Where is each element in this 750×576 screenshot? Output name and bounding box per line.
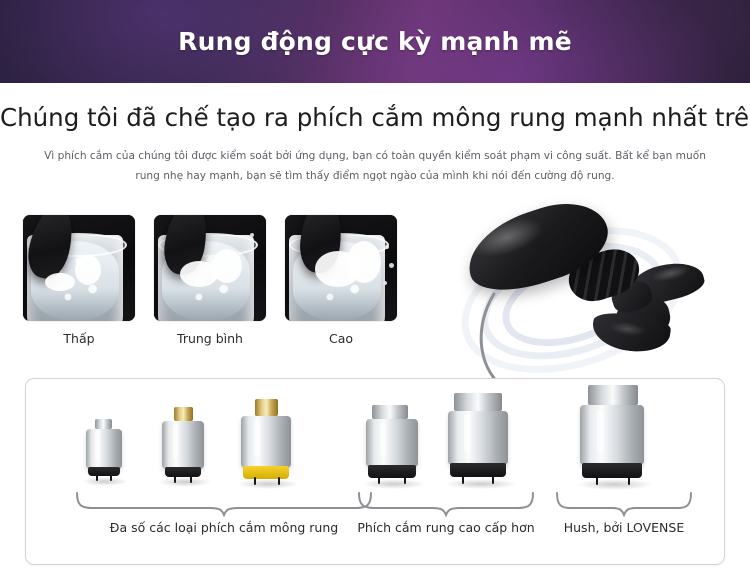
motor-comparison-panel: Đa số các loại phích cắm mông rung Phích… [25, 378, 725, 565]
motor-shadow [82, 477, 128, 486]
motor-hush [578, 385, 650, 485]
header-banner: Rung động cực kỳ mạnh mẽ [0, 0, 750, 83]
motor-pin [378, 476, 380, 484]
motor-pin [96, 474, 98, 481]
motor-shadow [237, 479, 299, 489]
motor-small-3 [239, 399, 295, 485]
motor-endcap [243, 466, 289, 479]
motor-shadow [444, 479, 518, 489]
promo-page: Rung động cực kỳ mạnh mẽ Chúng tôi đã ch… [0, 0, 750, 576]
droplet [383, 281, 387, 285]
intensity-photo-high [285, 215, 397, 321]
group-label-2: Phích cắm rung cao cấp hơn [356, 519, 536, 536]
motor-can [366, 419, 418, 467]
intensity-caption-low: Thấp [23, 331, 135, 346]
group-label-3: Hush, bởi LOVENSE [554, 519, 694, 536]
banner-title: Rung động cực kỳ mạnh mẽ [0, 26, 750, 58]
motor-shadow [362, 479, 426, 489]
motor-endcap [582, 463, 642, 478]
photo-content-low [23, 215, 135, 321]
motor-pin [596, 476, 598, 485]
group-label-1: Đa số các loại phích cắm mông rung [74, 519, 374, 536]
motor-endcap [165, 467, 201, 477]
motor-can [86, 429, 122, 469]
motor-pin [110, 474, 112, 481]
motor-pin [190, 475, 192, 483]
motor-weight [255, 399, 278, 416]
motor-mid-1 [364, 405, 422, 485]
brace-group-2 [356, 491, 536, 517]
motor-small-2 [160, 407, 208, 483]
motor-can [162, 421, 204, 469]
motor-weight [372, 405, 408, 419]
intensity-caption-row: Thấp Trung bình Cao [23, 331, 403, 351]
motor-endcap [450, 463, 506, 477]
motor-weight [95, 419, 112, 429]
brace-group-3 [554, 491, 694, 517]
droplet [250, 233, 254, 237]
brace-group-1 [74, 491, 374, 517]
motor-shadow [158, 477, 212, 487]
droplet [115, 239, 118, 242]
intensity-photo-medium [154, 215, 266, 321]
motor-mid-2 [446, 393, 514, 485]
motor-pin [174, 475, 176, 483]
droplet [389, 263, 394, 268]
motor-small-1 [84, 419, 126, 481]
motor-can [448, 411, 508, 465]
motor-pin [628, 476, 630, 485]
intensity-caption-medium: Trung bình [154, 331, 266, 346]
page-headline: Chúng tôi đã chế tạo ra phích cắm mông r… [0, 103, 750, 133]
motor-shadow [576, 479, 654, 490]
motor-pin [462, 475, 464, 484]
intensity-photo-row [23, 215, 403, 321]
motor-can [241, 416, 291, 468]
page-subcopy: Vì phích cắm của chúng tôi được kiểm soá… [42, 146, 708, 186]
intensity-caption-high: Cao [285, 331, 397, 346]
foam-blob [45, 273, 75, 291]
motor-weight [454, 393, 502, 411]
foam-blob [212, 249, 242, 283]
motor-pin [278, 477, 280, 485]
motor-pin [254, 477, 256, 485]
motor-pin [492, 475, 494, 484]
motor-weight [588, 385, 638, 405]
photo-content-high [285, 215, 397, 321]
motor-pin [404, 476, 406, 484]
intensity-photo-low [23, 215, 135, 321]
motor-endcap [368, 465, 416, 478]
foam-blob [347, 241, 381, 283]
droplet [385, 245, 389, 249]
photo-content-medium [154, 215, 266, 321]
motor-can [580, 405, 644, 465]
motor-weight [174, 407, 193, 421]
motor-endcap [88, 467, 120, 476]
foam-blob [75, 255, 101, 285]
